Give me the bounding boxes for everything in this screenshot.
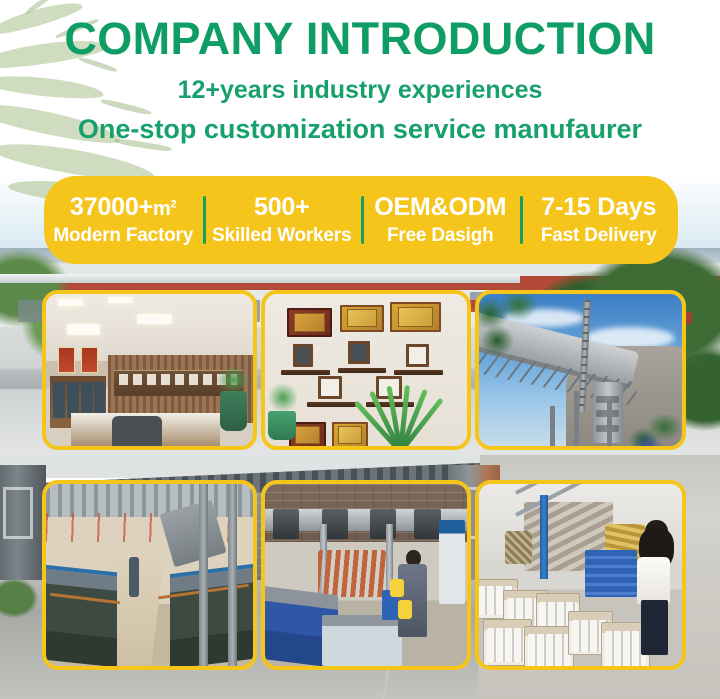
spiky-plant-icon bbox=[358, 385, 439, 446]
photo-card-plating-line[interactable] bbox=[42, 480, 257, 670]
stat-oem-odm: OEM&ODM Free Dasigh bbox=[361, 193, 520, 246]
page-header: COMPANY INTRODUCTION 12+years industry e… bbox=[0, 0, 720, 145]
stat-lead-time: 7-15 Days Fast Delivery bbox=[520, 193, 679, 246]
square-meter-unit: m2 bbox=[153, 198, 177, 220]
stat-label-free-design: Free Dasigh bbox=[365, 225, 516, 246]
stat-value-area: 37000+m2 bbox=[48, 193, 199, 221]
photo-packing-warehouse bbox=[479, 484, 682, 666]
factory-photo-gallery bbox=[42, 290, 686, 670]
stat-label-modern-factory: Modern Factory bbox=[48, 225, 199, 246]
square-meter-exponent: 2 bbox=[171, 199, 177, 211]
stat-value-area-number: 37000+ bbox=[70, 193, 153, 221]
photo-worker-plating bbox=[265, 484, 467, 666]
photo-card-packing-warehouse[interactable] bbox=[475, 480, 686, 670]
page-subtitle-experience: 12+years industry experiences bbox=[0, 77, 720, 105]
photo-card-certificates-wall[interactable] bbox=[261, 290, 471, 450]
stat-value-lead-time: 7-15 Days bbox=[524, 193, 675, 221]
photo-card-worker-plating[interactable] bbox=[261, 480, 471, 670]
stat-value-oem-odm: OEM&ODM bbox=[365, 193, 516, 221]
photo-office-showroom bbox=[46, 294, 253, 446]
stats-banner: 37000+m2 Modern Factory 500+ Skilled Wor… bbox=[44, 176, 678, 264]
stat-skilled-workers: 500+ Skilled Workers bbox=[203, 193, 362, 246]
stat-label-fast-delivery: Fast Delivery bbox=[524, 225, 675, 246]
photo-certificates-wall bbox=[265, 294, 467, 446]
photo-card-office-showroom[interactable] bbox=[42, 290, 257, 450]
page-title: COMPANY INTRODUCTION bbox=[0, 16, 720, 63]
stat-value-workers: 500+ bbox=[207, 193, 358, 221]
stat-label-skilled-workers: Skilled Workers bbox=[207, 225, 358, 246]
photo-card-plant-exterior[interactable] bbox=[475, 290, 686, 450]
stat-modern-factory: 37000+m2 Modern Factory bbox=[44, 193, 203, 246]
photo-plating-line bbox=[46, 484, 253, 666]
company-introduction-page: COMPANY INTRODUCTION 12+years industry e… bbox=[0, 0, 720, 699]
photo-plant-exterior bbox=[479, 294, 682, 446]
page-subtitle-service: One-stop customization service manufaure… bbox=[0, 115, 720, 145]
